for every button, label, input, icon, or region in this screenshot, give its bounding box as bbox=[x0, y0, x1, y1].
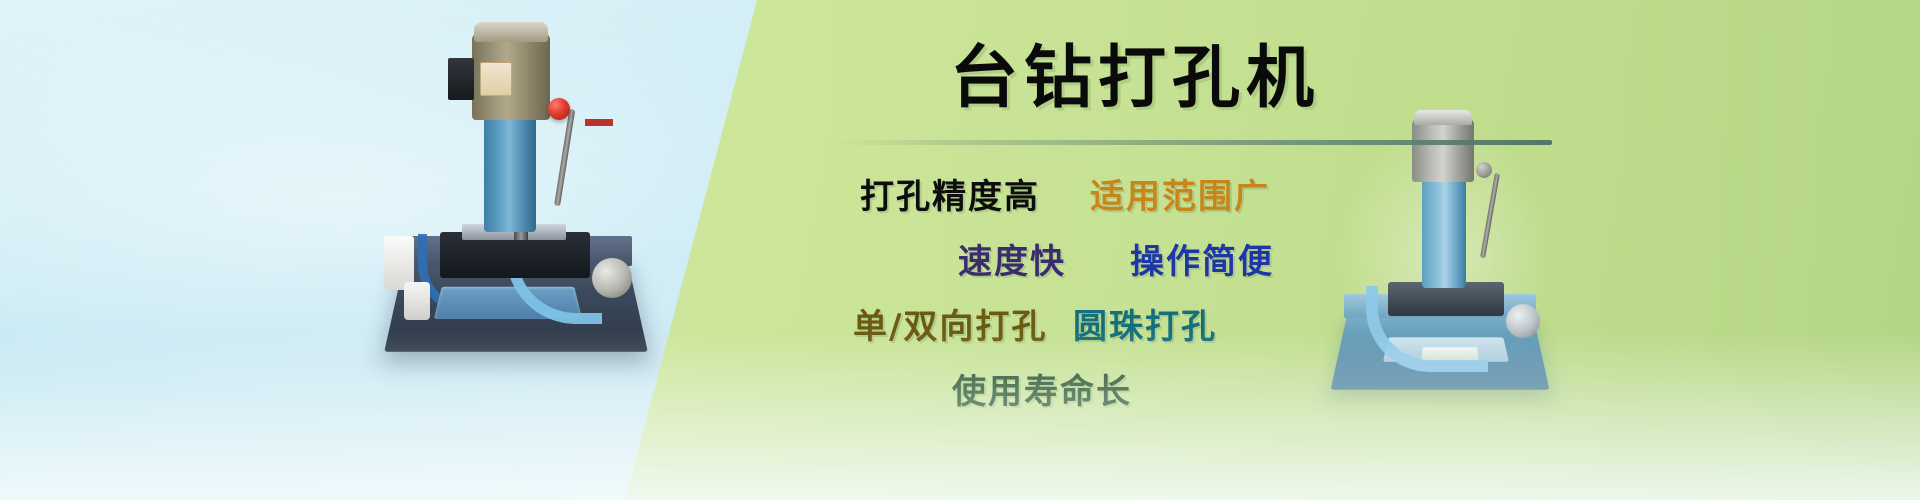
feature-wide-application: 适用范围广 bbox=[1090, 180, 1270, 214]
feature-ball-drilling: 圆珠打孔 bbox=[1073, 310, 1217, 344]
product-banner: 台钻打孔机 打孔精度高 适用范围广 速度快 操作简便 单/双向打孔 圆珠打孔 使… bbox=[0, 0, 1920, 500]
feature-drilling-precision: 打孔精度高 bbox=[860, 180, 1040, 214]
feature-fast-speed: 速度快 bbox=[958, 245, 1066, 279]
feature-single-double-drilling: 单/双向打孔 bbox=[853, 310, 1047, 344]
feature-long-service-life: 使用寿命长 bbox=[952, 375, 1132, 409]
feature-easy-operation: 操作简便 bbox=[1130, 245, 1274, 279]
feature-list: 打孔精度高 适用范围广 速度快 操作简便 单/双向打孔 圆珠打孔 使用寿命长 bbox=[0, 0, 1920, 500]
